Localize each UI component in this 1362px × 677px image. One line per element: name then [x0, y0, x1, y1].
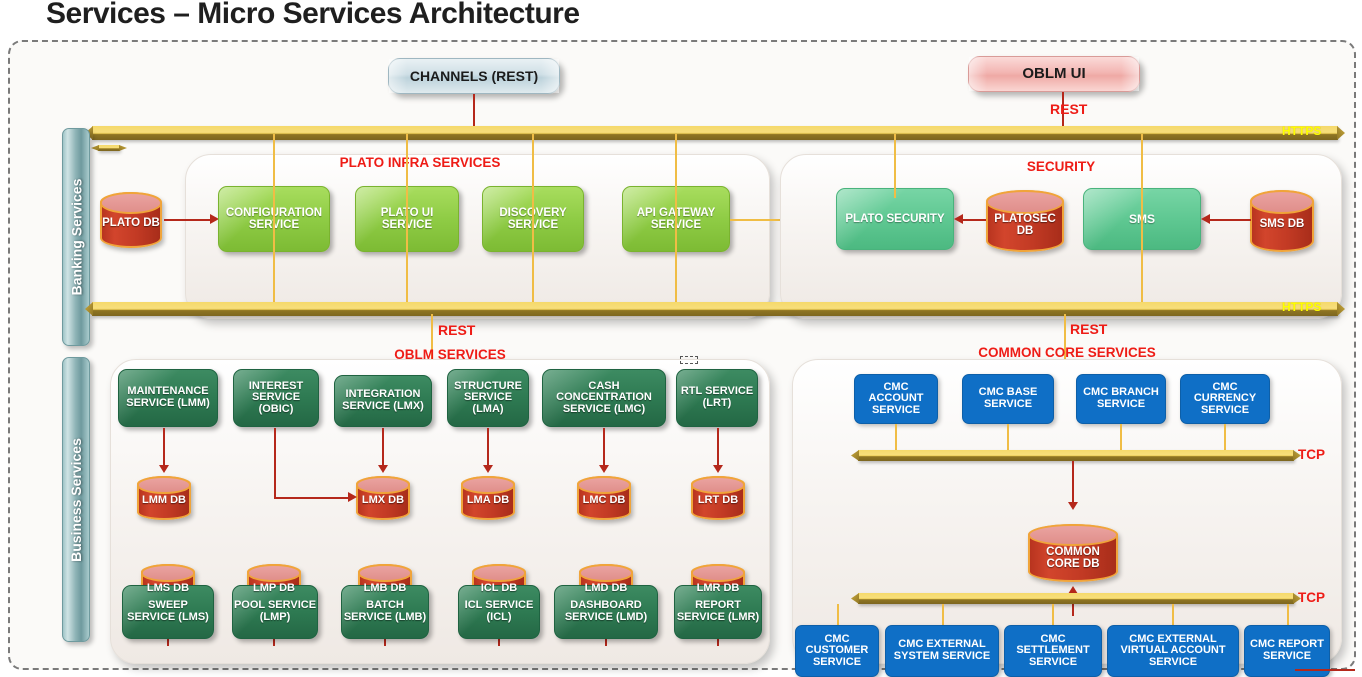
node-channels-label: CHANNELS (REST): [410, 69, 538, 84]
service-cmc-settlement[interactable]: CMC SETTLEMENT SERVICE: [1004, 625, 1102, 677]
connector-obic-horizontal: [274, 497, 350, 499]
connector-bus-to-plato-ui: [406, 134, 408, 309]
connector-tcp-to-cmc-report: [1287, 604, 1289, 626]
arrow-obic-to-lmx-db: [348, 492, 357, 502]
service-cmc-external-system[interactable]: CMC EXTERNAL SYSTEM SERVICE: [885, 625, 999, 677]
node-oblm-ui[interactable]: OBLM UI: [968, 56, 1140, 92]
service-cmc-settlement-label: CMC SETTLEMENT SERVICE: [1005, 634, 1101, 669]
service-maintenance-lmm[interactable]: MAINTENANCE SERVICE (LMM): [118, 369, 218, 427]
service-icl-label: ICL SERVICE (ICL): [459, 600, 539, 623]
node-oblm-ui-label: OBLM UI: [1022, 66, 1085, 82]
rail-business-label: Business Services: [68, 438, 84, 562]
connector-smsdb-to-sms: [1209, 219, 1251, 221]
service-cmc-branch-label: CMC BRANCH SERVICE: [1077, 387, 1165, 410]
service-report-lmr-label: REPORT SERVICE (LMR): [675, 600, 761, 623]
arrow-to-sms: [1201, 214, 1210, 224]
connector-tcp-to-cmc-external-system: [942, 604, 944, 626]
arrow-to-platosecurity: [954, 214, 963, 224]
db-icl-label: ICL DB: [481, 577, 517, 594]
arrow-lma-db: [483, 465, 493, 473]
bus-middle: [92, 302, 1338, 316]
service-maintenance-lmm-label: MAINTENANCE SERVICE (LMM): [119, 386, 217, 409]
db-plato-label: PLATO DB: [102, 211, 160, 229]
db-plato[interactable]: PLATO DB: [100, 192, 162, 248]
title-security: SECURITY: [1022, 160, 1100, 174]
db-lmx[interactable]: LMX DB: [356, 476, 410, 520]
db-sms[interactable]: SMS DB: [1250, 190, 1314, 252]
db-lmr-label: LMR DB: [697, 577, 740, 594]
label-https-top: HTTPS: [1282, 126, 1316, 137]
service-plato-security-label: PLATO SECURITY: [845, 213, 944, 225]
connector-lmx-to-db: [382, 428, 384, 466]
db-lmc-label: LMC DB: [583, 489, 626, 506]
service-cmc-currency[interactable]: CMC CURRENCY SERVICE: [1180, 374, 1270, 424]
service-cmc-account-label: CMC ACCOUNT SERVICE: [855, 382, 937, 417]
connector-bus-to-discovery: [532, 134, 534, 309]
service-interest-obic[interactable]: INTEREST SERVICE (OBIC): [233, 369, 319, 427]
bus-stub-left: [98, 145, 120, 151]
db-lmc[interactable]: LMC DB: [577, 476, 631, 520]
connector-tcp-to-cmc-customer: [837, 604, 839, 626]
title-oblm-services: OBLM SERVICES: [370, 348, 530, 362]
service-pool-lmp-label: POOL SERVICE (LMP): [233, 600, 317, 623]
connector-lma-to-db: [487, 428, 489, 466]
db-lma-label: LMA DB: [467, 489, 509, 506]
bottom-accent-rule: [1295, 669, 1355, 671]
db-common-core-label: COMMON CORE DB: [1030, 536, 1116, 570]
db-lrt-label: LRT DB: [698, 489, 738, 506]
service-integration-lmx[interactable]: INTEGRATION SERVICE (LMX): [334, 375, 432, 427]
node-channels[interactable]: CHANNELS (REST): [388, 58, 560, 94]
arrow-lmm-db: [159, 465, 169, 473]
db-lmx-label: LMX DB: [362, 489, 404, 506]
connector-bus-to-sms: [1141, 134, 1143, 314]
service-integration-lmx-label: INTEGRATION SERVICE (LMX): [335, 389, 431, 412]
connector-lmc-to-db: [603, 428, 605, 466]
service-cmc-customer[interactable]: CMC CUSTOMER SERVICE: [795, 625, 879, 677]
arrow-lrt-db: [713, 465, 723, 473]
db-lmd-label: LMD DB: [585, 577, 628, 594]
connector-bus-to-platosecurity: [894, 134, 896, 198]
rail-banking-label: Banking Services: [68, 179, 84, 296]
title-common-core: COMMON CORE SERVICES: [972, 346, 1162, 360]
connector-platodb-to-config: [164, 219, 212, 221]
placeholder-box: [680, 356, 698, 364]
service-sweep-lms-label: SWEEP SERVICE (LMS): [123, 600, 213, 623]
service-cmc-external-virtual-account[interactable]: CMC EXTERNAL VIRTUAL ACCOUNT SERVICE: [1107, 625, 1239, 677]
connector-tcp-to-cmc-settlement: [1052, 604, 1054, 626]
db-platosec[interactable]: PLATOSEC DB: [986, 190, 1064, 252]
service-structure-lma-label: STRUCTURE SERVICE (LMA): [448, 381, 528, 416]
db-lmp-label: LMP DB: [253, 577, 295, 594]
db-common-core[interactable]: COMMON CORE DB: [1028, 524, 1118, 582]
service-cmc-customer-label: CMC CUSTOMER SERVICE: [796, 634, 878, 669]
service-interest-obic-label: INTEREST SERVICE (OBIC): [234, 381, 318, 416]
service-cash-concentration-lmc-label: CASH CONCENTRATION SERVICE (LMC): [543, 381, 665, 416]
connector-platosecdb-to-platosecurity: [962, 219, 986, 221]
rail-business-services: Business Services: [62, 357, 90, 642]
service-cmc-external-system-label: CMC EXTERNAL SYSTEM SERVICE: [886, 639, 998, 662]
bus-tcp-lower: [858, 593, 1294, 604]
service-cmc-currency-label: CMC CURRENCY SERVICE: [1181, 382, 1269, 417]
db-sms-label: SMS DB: [1260, 212, 1305, 231]
diagram-canvas: CHANNELS (REST) OBLM UI REST HTTPS Banki…: [8, 40, 1356, 670]
rail-banking-services: Banking Services: [62, 128, 90, 346]
arrow-tcp-upper-to-db: [1068, 502, 1078, 510]
db-lmb-label: LMB DB: [364, 577, 407, 594]
connector-tcp-upper-to-db: [1072, 461, 1074, 503]
label-tcp-lower: TCP: [1298, 591, 1334, 605]
service-cmc-base-label: CMC BASE SERVICE: [963, 387, 1053, 410]
service-cash-concentration-lmc[interactable]: CASH CONCENTRATION SERVICE (LMC): [542, 369, 666, 427]
title-plato-infra: PLATO INFRA SERVICES: [310, 156, 530, 170]
service-dashboard-lmd-label: DASHBOARD SERVICE (LMD): [555, 600, 657, 623]
connector-lrt-to-db: [717, 428, 719, 466]
service-rtl-lrt-label: RTL SERVICE (LRT): [677, 386, 757, 409]
service-structure-lma[interactable]: STRUCTURE SERVICE (LMA): [447, 369, 529, 427]
db-lmm[interactable]: LMM DB: [137, 476, 191, 520]
connector-obic-vertical: [274, 428, 276, 498]
arrow-lmx-db: [378, 465, 388, 473]
service-batch-lmb-label: BATCH SERVICE (LMB): [342, 600, 428, 623]
service-cmc-external-virtual-account-label: CMC EXTERNAL VIRTUAL ACCOUNT SERVICE: [1108, 634, 1238, 669]
service-cmc-branch[interactable]: CMC BRANCH SERVICE: [1076, 374, 1166, 424]
service-cmc-base[interactable]: CMC BASE SERVICE: [962, 374, 1054, 424]
bus-tcp-upper: [858, 450, 1294, 461]
label-rest-oblm-services: REST: [438, 323, 488, 337]
db-lmm-label: LMM DB: [142, 489, 186, 506]
bus-top: [92, 126, 1338, 140]
page-title: Services – Micro Services Architecture: [46, 0, 580, 31]
label-https-mid: HTTPS: [1282, 302, 1316, 313]
connector-tcp-to-cmc-external-virtual: [1172, 604, 1174, 626]
db-lrt[interactable]: LRT DB: [691, 476, 745, 520]
connector-bus-to-configuration: [273, 134, 275, 309]
service-rtl-lrt[interactable]: RTL SERVICE (LRT): [676, 369, 758, 427]
connector-lmm-to-db: [163, 428, 165, 466]
arrow-lmc-db: [599, 465, 609, 473]
service-cmc-report-label: CMC REPORT SERVICE: [1245, 639, 1329, 662]
label-rest-common-core: REST: [1070, 322, 1120, 336]
service-cmc-account[interactable]: CMC ACCOUNT SERVICE: [854, 374, 938, 424]
db-platosec-label: PLATOSEC DB: [988, 205, 1062, 237]
connector-bus-to-api-gateway: [675, 134, 677, 309]
label-rest-oblm-ui: REST: [1050, 102, 1087, 116]
db-lma[interactable]: LMA DB: [461, 476, 515, 520]
db-lms-label: LMS DB: [147, 577, 189, 594]
label-tcp-upper: TCP: [1298, 448, 1334, 462]
